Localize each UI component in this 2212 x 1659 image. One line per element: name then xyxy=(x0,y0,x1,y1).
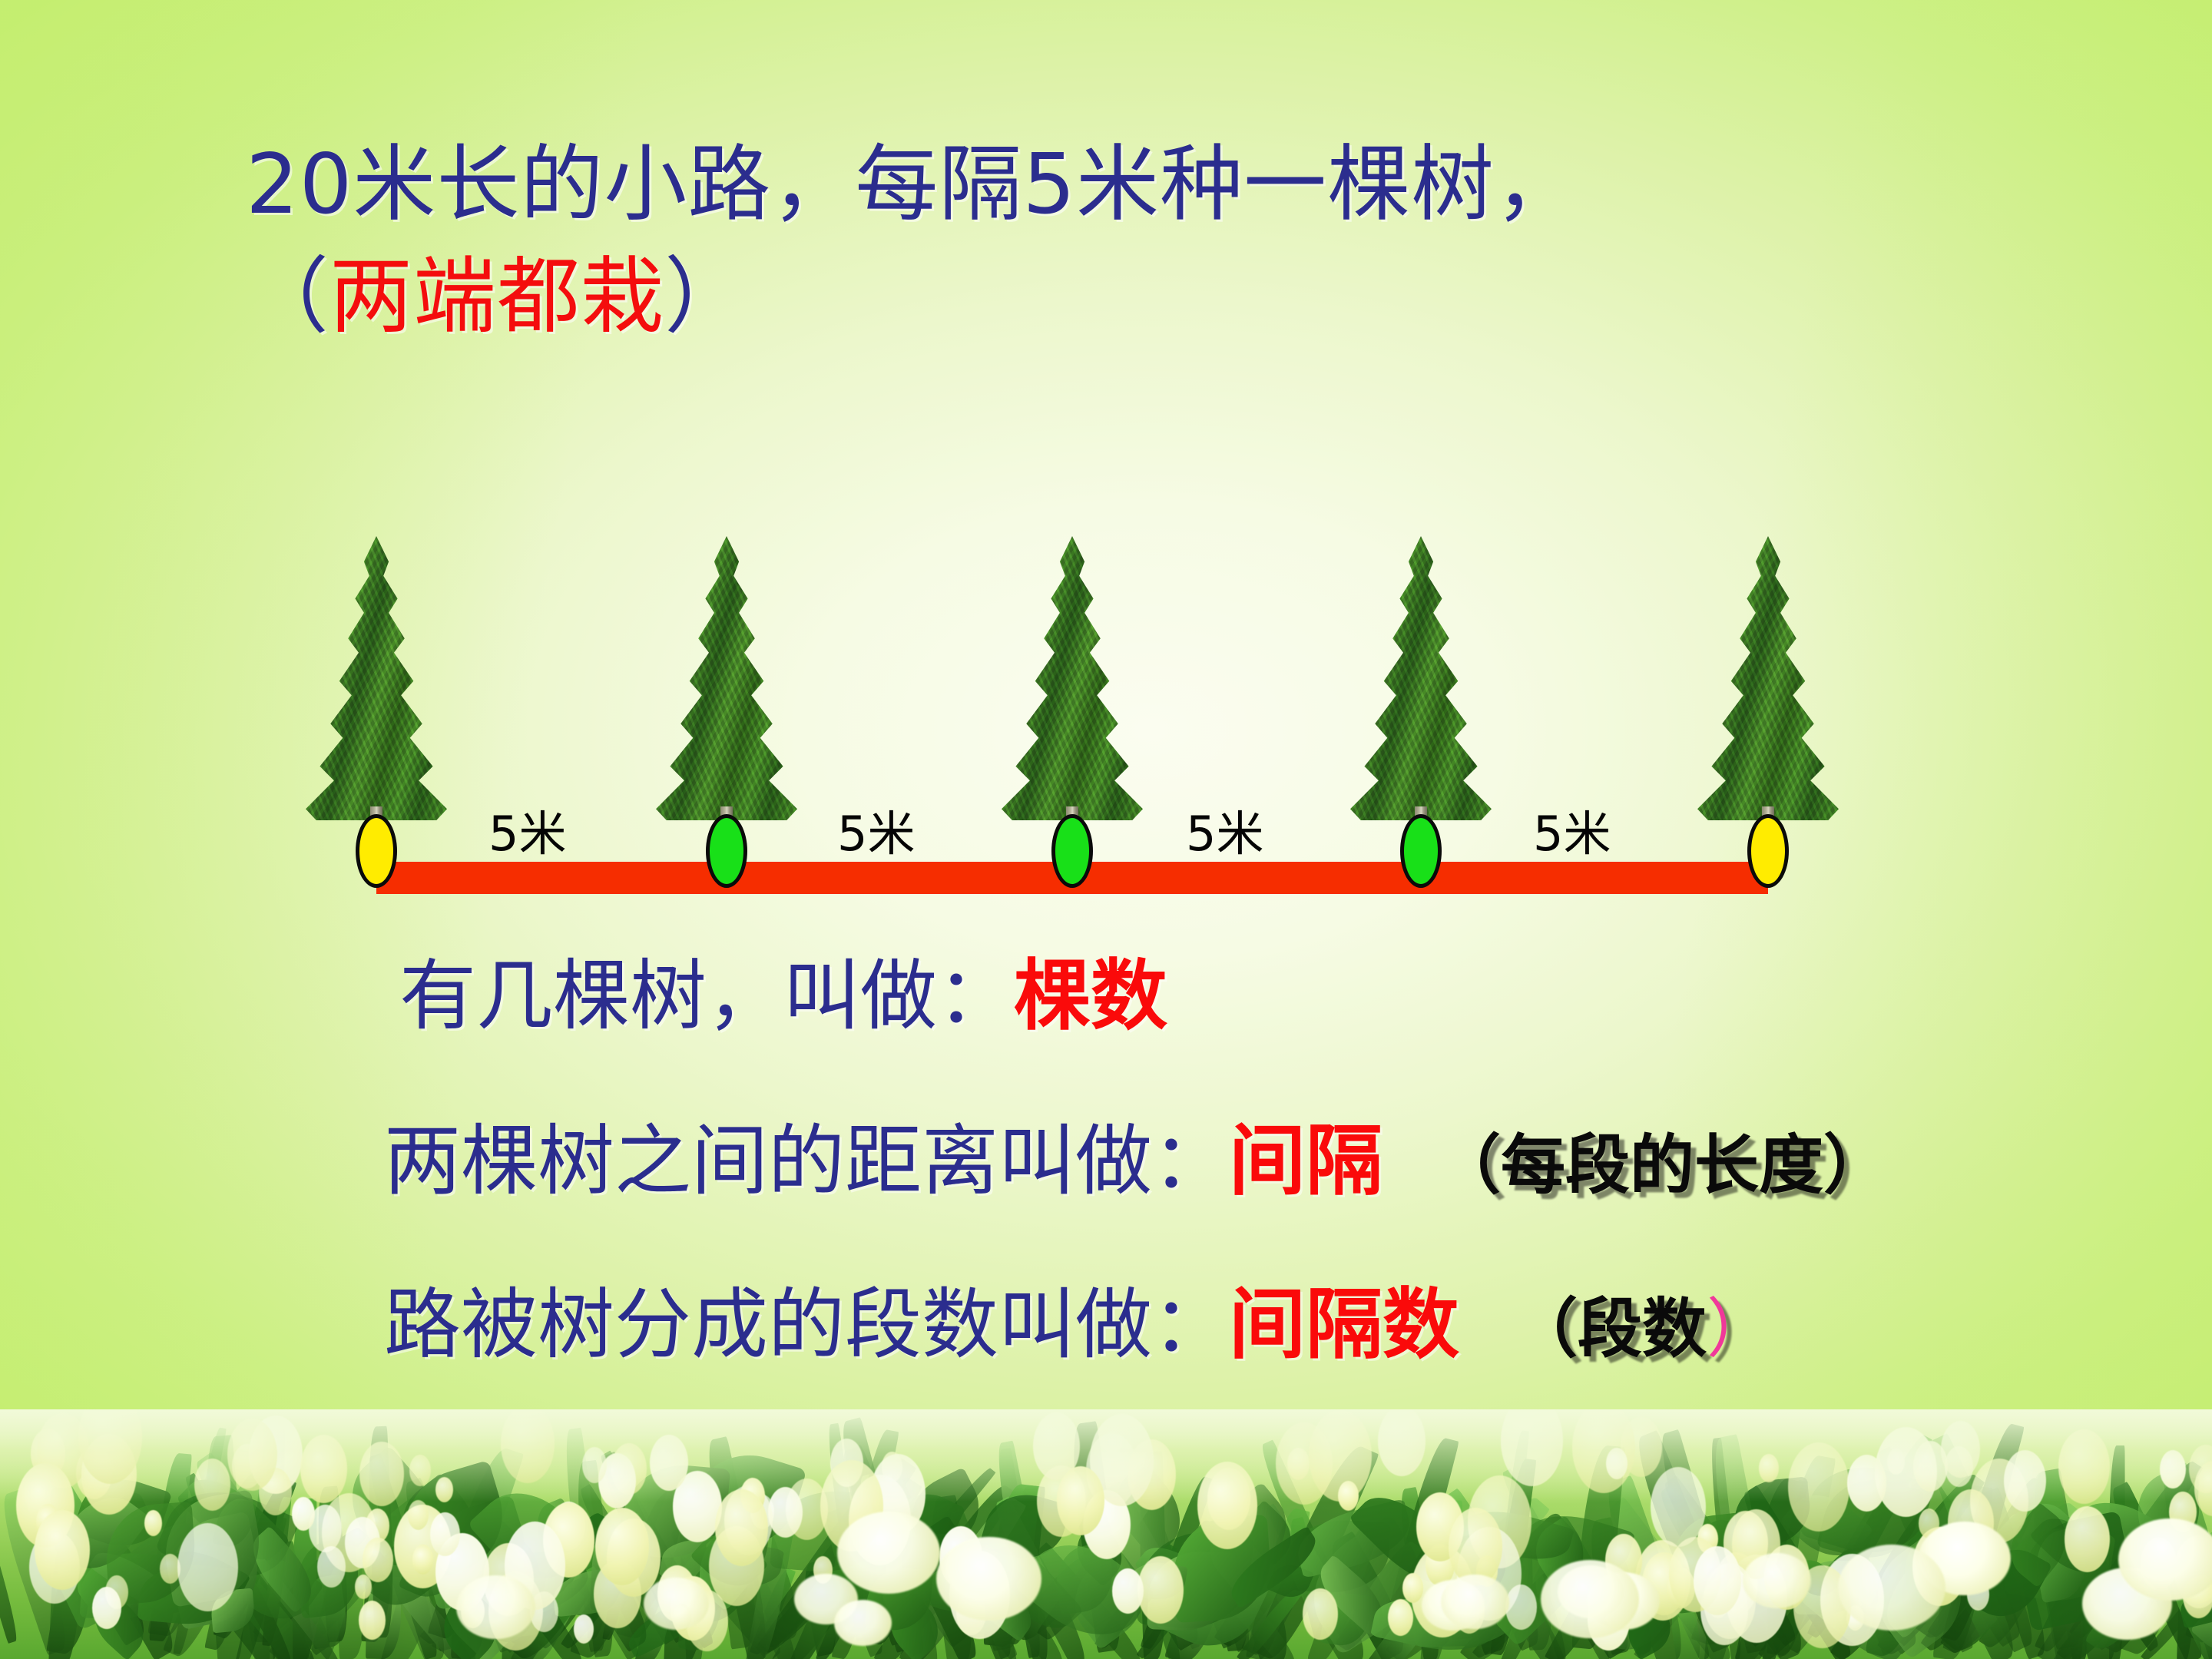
flower-blossom xyxy=(595,1508,649,1585)
tree-2 xyxy=(638,536,815,866)
flower-blossom-large xyxy=(1838,1545,1945,1631)
tree-4 xyxy=(1333,536,1509,866)
tree-canopy-icon xyxy=(1680,536,1856,820)
flower-blossom xyxy=(1388,1599,1413,1636)
title-line-2: （两端都栽） xyxy=(246,247,2135,348)
note-interval-count: （段数） xyxy=(1513,1291,1771,1366)
flower-blossom xyxy=(1137,1556,1184,1624)
flower-blossom xyxy=(363,1538,393,1582)
title-block: 20米长的小路，每隔5米种一棵树， （两端都栽） xyxy=(246,134,2135,348)
flower-blossom-large xyxy=(2118,1518,2212,1601)
tree-3 xyxy=(984,536,1161,866)
flower-blossom xyxy=(144,1510,162,1536)
flower-border-image xyxy=(0,1409,2212,1659)
flower-blossom-large xyxy=(936,1537,1041,1621)
title-highlight-text: 两端都栽 xyxy=(329,249,664,345)
flower-blossom xyxy=(1303,1588,1338,1640)
flower-blossom xyxy=(1112,1568,1144,1614)
flower-blossom xyxy=(1402,1573,1423,1603)
keyword-tree-count: 棵数 xyxy=(1014,951,1167,1041)
tree-base-marker-yellow xyxy=(1747,814,1789,888)
tree-base-marker-green xyxy=(1400,814,1442,888)
slide-canvas: 20米长的小路，每隔5米种一棵树， （两端都栽） xyxy=(0,0,2212,1659)
tree-base-marker-green xyxy=(706,814,747,888)
segment-label-1: 5米 xyxy=(488,795,566,864)
tree-canopy-icon xyxy=(638,536,815,820)
segment-label-2: 5米 xyxy=(837,795,915,864)
note-main-text: （段数 xyxy=(1513,1291,1707,1366)
flower-blossom-large xyxy=(644,1578,709,1630)
note-interval: （每段的长度） xyxy=(1436,1128,1888,1203)
explanation-text-1: 有几棵树，叫做： xyxy=(399,951,1014,1041)
flower-blossom-large xyxy=(1541,1560,1639,1638)
flower-blossom-large xyxy=(834,1600,892,1646)
flower-blossom xyxy=(1505,1584,1537,1630)
tree-base-marker-green xyxy=(1051,814,1093,888)
explanation-text-2: 两棵树之间的距离叫做： xyxy=(384,1116,1229,1206)
title-line-1: 20米长的小路，每隔5米种一棵树， xyxy=(246,134,2135,236)
title-close-paren: ） xyxy=(664,249,748,345)
flower-blossom xyxy=(92,1587,121,1629)
tree-canopy-icon xyxy=(288,536,465,820)
segment-label-3: 5米 xyxy=(1186,795,1263,864)
flower-blossom xyxy=(574,1614,594,1644)
flower-blossom xyxy=(359,1601,386,1640)
explanation-text-3: 路被树分成的段数叫做： xyxy=(384,1280,1229,1369)
flower-blossom-large xyxy=(1441,1575,1509,1629)
tree-planting-diagram: 5米 5米 5米 5米 xyxy=(0,476,2212,937)
explanation-line-interval-count: 路被树分成的段数叫做：间隔数（段数） xyxy=(384,1262,1771,1373)
foliage-top-fade xyxy=(0,1409,2212,1502)
tree-1 xyxy=(288,536,465,866)
tree-5 xyxy=(1680,536,1856,866)
explanation-line-tree-count: 有几棵树，叫做：棵数 xyxy=(399,933,1167,1045)
flower-blossom xyxy=(2065,1506,2110,1572)
flower-blossom xyxy=(408,1500,429,1530)
tree-canopy-icon xyxy=(1333,536,1509,820)
flower-blossom xyxy=(430,1512,460,1556)
note-close-paren: ） xyxy=(1707,1291,1771,1366)
flower-blossom xyxy=(412,1545,433,1575)
flower-blossom xyxy=(35,1510,90,1590)
flower-blossom-large xyxy=(456,1575,535,1639)
flower-blossom xyxy=(317,1546,346,1588)
flower-blossom-large xyxy=(837,1512,940,1594)
flower-blossom xyxy=(177,1523,238,1611)
tree-base-marker-yellow xyxy=(356,814,397,888)
flower-blossom xyxy=(1694,1546,1741,1615)
keyword-interval-count: 间隔数 xyxy=(1229,1280,1459,1369)
tree-canopy-icon xyxy=(984,536,1161,820)
keyword-interval: 间隔 xyxy=(1229,1116,1382,1206)
flower-blossom-large xyxy=(1743,1553,1811,1608)
explanation-line-interval: 两棵树之间的距离叫做：间隔（每段的长度） xyxy=(384,1098,1888,1210)
segment-label-4: 5米 xyxy=(1533,795,1611,864)
flower-blossom xyxy=(292,1497,315,1531)
title-open-paren: （ xyxy=(246,249,329,345)
